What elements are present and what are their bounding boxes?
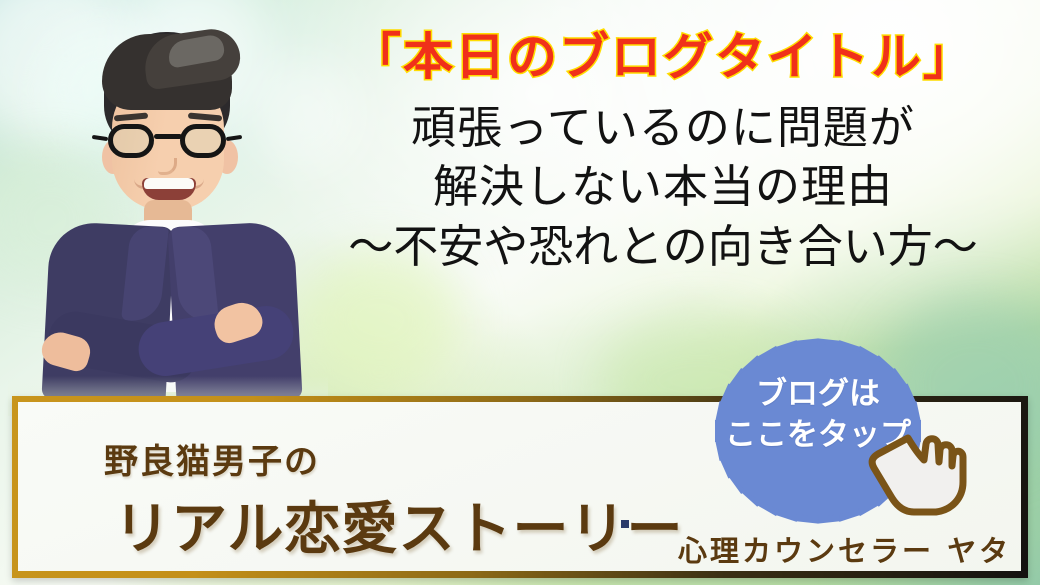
panel-credit: 心理カウンセラー ヤタ bbox=[678, 528, 1011, 570]
headline-line-1: 頑張っているのに問題が bbox=[300, 98, 1026, 157]
eyeglasses-icon bbox=[106, 124, 230, 158]
headline-line-2: 解決しない本当の理由 bbox=[300, 157, 1026, 216]
pointing-hand-cursor-icon bbox=[864, 424, 968, 520]
headline-line-3: 〜不安や恐れとの向き合い方〜 bbox=[300, 217, 1026, 276]
panel-subtitle: 野良猫男子の bbox=[104, 434, 320, 483]
presenter-photo bbox=[18, 28, 318, 410]
blog-title-kicker: 「本日のブログタイトル」 bbox=[300, 28, 1026, 86]
badge-label-line-1: ブログは bbox=[712, 374, 924, 415]
decorative-square bbox=[621, 520, 629, 528]
panel-title: リアル恋愛ストーリー bbox=[114, 484, 683, 565]
headline-block: 「本日のブログタイトル」 頑張っているのに問題が 解決しない本当の理由 〜不安や… bbox=[300, 28, 1026, 276]
thumbnail-canvas: 「本日のブログタイトル」 頑張っているのに問題が 解決しない本当の理由 〜不安や… bbox=[0, 0, 1040, 585]
